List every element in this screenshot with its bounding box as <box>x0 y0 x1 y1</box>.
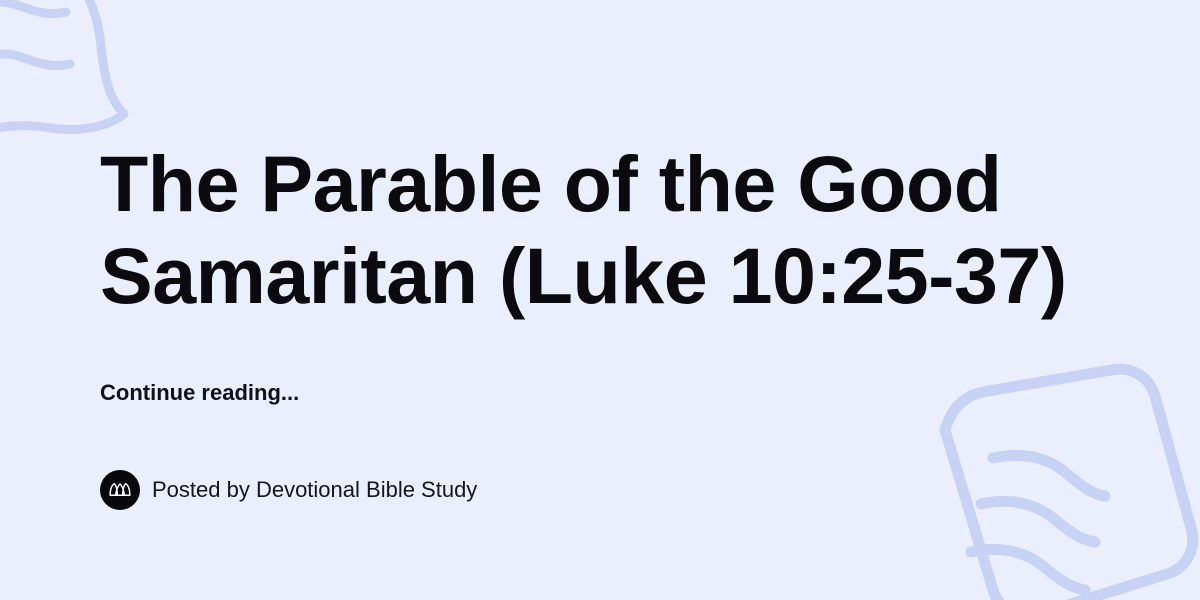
link-preview-card: The Parable of the Good Samaritan (Luke … <box>0 0 1200 600</box>
byline-text: Posted by Devotional Bible Study <box>152 477 477 503</box>
avatar <box>100 470 140 510</box>
page-title: The Parable of the Good Samaritan (Luke … <box>100 138 1110 322</box>
mountain-monogram-icon <box>107 477 133 503</box>
byline: Posted by Devotional Bible Study <box>100 470 477 510</box>
continue-reading-label: Continue reading... <box>100 378 299 408</box>
card-content: The Parable of the Good Samaritan (Luke … <box>100 0 1110 600</box>
